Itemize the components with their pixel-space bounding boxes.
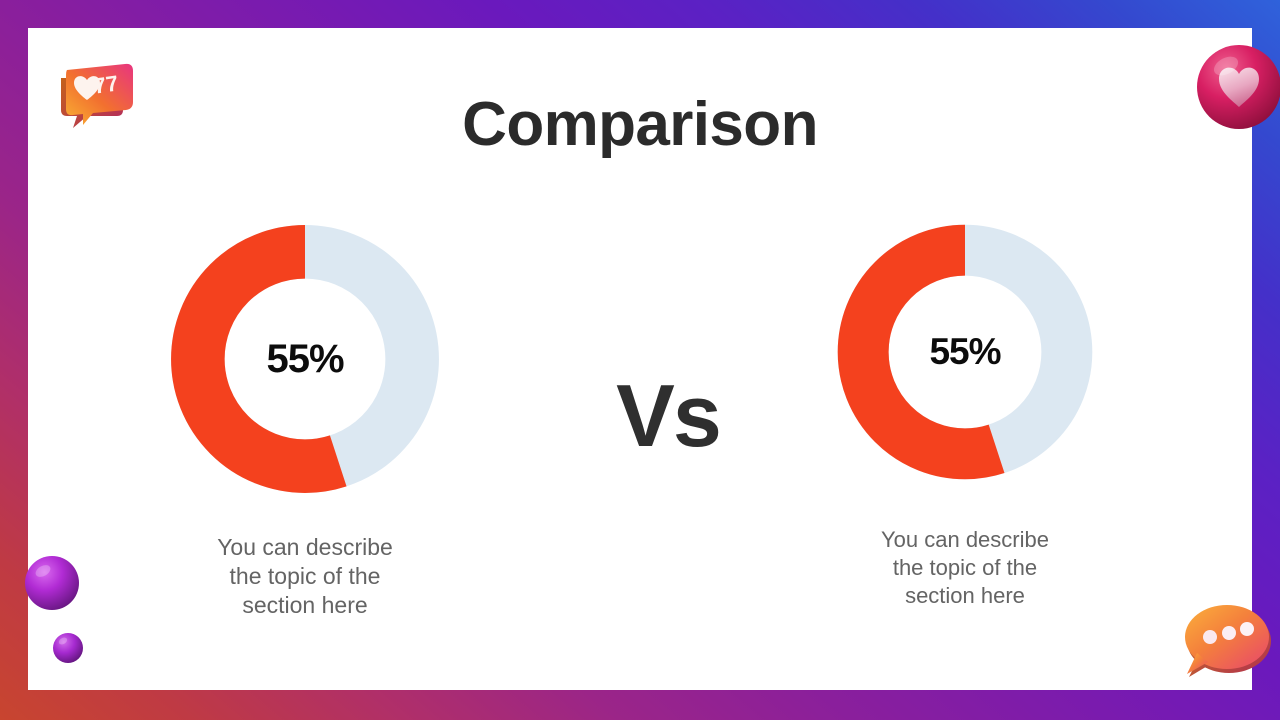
purple-sphere-large-decoration — [24, 555, 80, 611]
donut-center-value-right: 55% — [831, 218, 1099, 486]
sphere-body — [53, 633, 83, 663]
chat-bubble-icon — [1175, 597, 1279, 683]
slide-white-card: Comparison 55% You can describe the topi… — [28, 28, 1252, 690]
comparison-column-right: 55% You can describe the topic of the se… — [800, 218, 1130, 610]
slide-root: Comparison 55% You can describe the topi… — [0, 0, 1280, 720]
vs-divider-label: Vs — [568, 368, 768, 464]
typing-dot — [1222, 626, 1236, 640]
page-title: Comparison — [28, 90, 1252, 160]
donut-center-value-left: 55% — [164, 218, 446, 500]
sphere-body — [25, 556, 79, 610]
notification-count: 77 — [92, 70, 120, 98]
typing-dot — [1240, 622, 1254, 636]
purple-sphere-small-decoration — [52, 632, 84, 664]
chat-bubble-decoration — [1175, 597, 1279, 683]
heart-sphere-icon — [1196, 44, 1280, 130]
comparison-description-left: You can describe the topic of the sectio… — [140, 533, 470, 620]
typing-dot — [1203, 630, 1217, 644]
donut-chart-right: 55% — [831, 218, 1099, 486]
sphere-icon — [24, 555, 80, 611]
heart-notification-icon: 77 — [47, 52, 139, 130]
heart-sphere-decoration — [1196, 44, 1280, 130]
donut-chart-left: 55% — [164, 218, 446, 500]
sphere-icon — [52, 632, 84, 664]
notification-badge-decoration: 77 — [47, 52, 139, 130]
comparison-description-right: You can describe the topic of the sectio… — [800, 526, 1130, 610]
comparison-column-left: 55% You can describe the topic of the se… — [140, 218, 470, 620]
